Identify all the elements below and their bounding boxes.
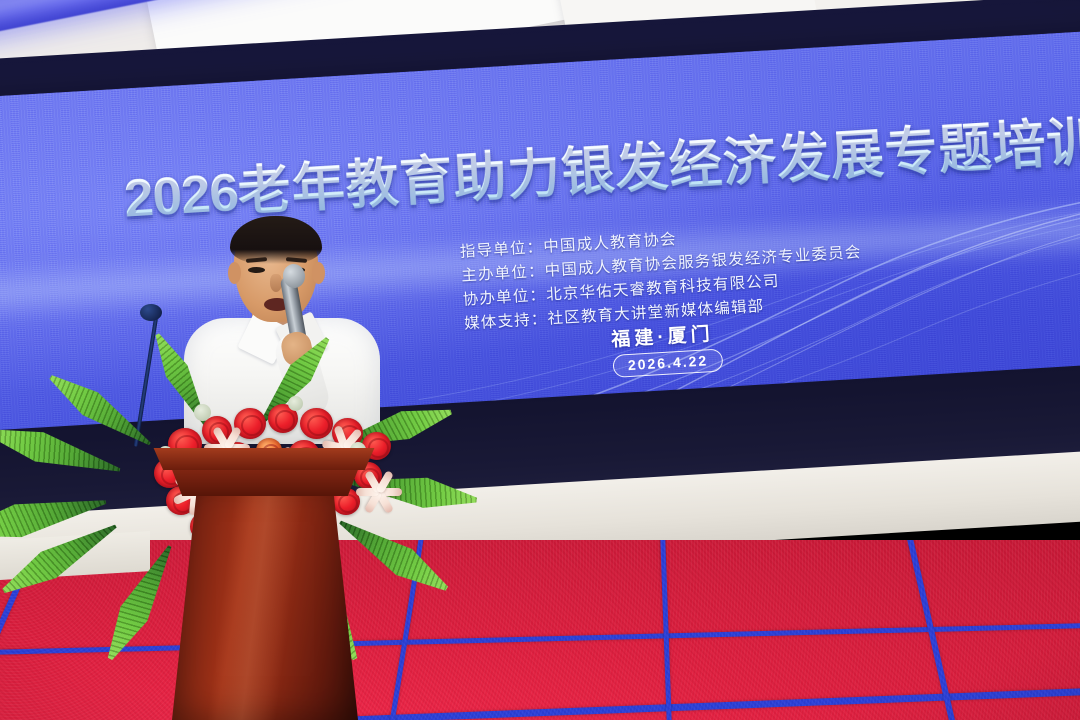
lectern-body [172,478,358,720]
speaker-ear-left [228,262,241,284]
conference-photo-scene: 2026老年教育助力银发经济发展专题培训 指导单位： 中国成人教育协会 主办单位… [0,0,1080,720]
flower-bud [288,396,303,411]
flower-bud [194,404,211,421]
lectern [148,432,380,720]
lectern-shelf [144,448,384,470]
speaker-eye-left [248,267,265,273]
carpet-tape-line [905,540,960,720]
microphone-capsule-icon [140,304,162,321]
speaker-hair [230,216,322,264]
speaker-ear-right [312,262,325,284]
carpet-tape-line [660,540,673,720]
